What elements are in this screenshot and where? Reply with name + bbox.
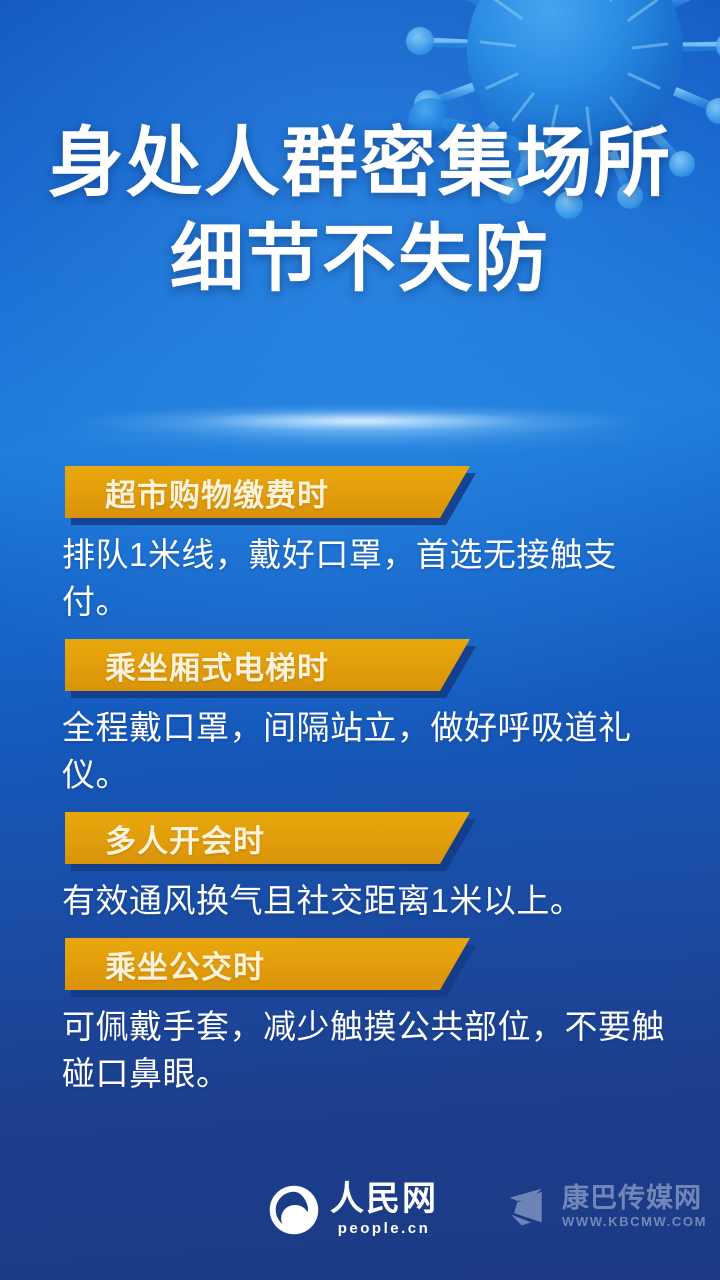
tip-banner-label-4: 乘坐公交时 <box>65 942 265 987</box>
title-line-2: 细节不失防 <box>0 212 720 308</box>
kbcmw-arrow-icon <box>508 1187 554 1227</box>
kbcmw-watermark: 康巴传媒网 WWW.KBCMW.COM <box>508 1184 707 1229</box>
kbcmw-url: WWW.KBCMW.COM <box>562 1214 707 1229</box>
tip-banner-label-2: 乘坐厢式电梯时 <box>65 643 329 688</box>
tip-body-3: 有效通风换气且社交距离1米以上。 <box>0 864 720 924</box>
tip-banner-label-3: 多人开会时 <box>65 816 265 861</box>
tip-section-2: 乘坐厢式电梯时 全程戴口罩，间隔站立，做好呼吸道礼仪。 <box>0 639 720 798</box>
tip-section-1: 超市购物缴费时 排队1米线，戴好口罩，首选无接触支付。 <box>0 466 720 625</box>
banner-shape: 超市购物缴费时 <box>65 466 470 518</box>
tip-banner-3: 多人开会时 <box>65 812 720 864</box>
tip-body-2: 全程戴口罩，间隔站立，做好呼吸道礼仪。 <box>0 691 720 798</box>
people-daily-swirl-icon <box>268 1184 320 1236</box>
poster-canvas: 身处人群密集场所 细节不失防 超市购物缴费时 排队1米线，戴好口罩，首选无接触支… <box>0 0 720 1280</box>
banner-shape: 乘坐厢式电梯时 <box>65 639 470 691</box>
tip-banner-label-1: 超市购物缴费时 <box>65 470 329 515</box>
people-daily-name-en: people.cn <box>338 1220 431 1237</box>
tip-banner-1: 超市购物缴费时 <box>65 466 720 518</box>
tip-section-3: 多人开会时 有效通风换气且社交距离1米以上。 <box>0 812 720 924</box>
page-title: 身处人群密集场所 细节不失防 <box>0 116 720 308</box>
tip-body-4: 可佩戴手套，减少触摸公共部位，不要触碰口鼻眼。 <box>0 990 720 1097</box>
kbcmw-wordmark: 康巴传媒网 WWW.KBCMW.COM <box>562 1184 707 1229</box>
title-line-1: 身处人群密集场所 <box>0 116 720 212</box>
people-daily-wordmark: 人民网 people.cn <box>330 1182 438 1237</box>
tip-banner-4: 乘坐公交时 <box>65 938 720 990</box>
banner-shape: 多人开会时 <box>65 812 470 864</box>
tips-list: 超市购物缴费时 排队1米线，戴好口罩，首选无接触支付。 乘坐厢式电梯时 全程戴口… <box>0 466 720 1111</box>
footer: 人民网 people.cn 康巴传媒网 WWW.KBCMW.COM <box>0 1170 720 1280</box>
people-daily-name-cn: 人民网 <box>330 1182 438 1218</box>
tip-banner-2: 乘坐厢式电梯时 <box>65 639 720 691</box>
people-daily-logo: 人民网 people.cn <box>268 1182 438 1237</box>
tip-body-1: 排队1米线，戴好口罩，首选无接触支付。 <box>0 518 720 625</box>
glow-divider <box>70 404 650 438</box>
tip-section-4: 乘坐公交时 可佩戴手套，减少触摸公共部位，不要触碰口鼻眼。 <box>0 938 720 1097</box>
banner-shape: 乘坐公交时 <box>65 938 470 990</box>
kbcmw-name-cn: 康巴传媒网 <box>562 1184 707 1213</box>
